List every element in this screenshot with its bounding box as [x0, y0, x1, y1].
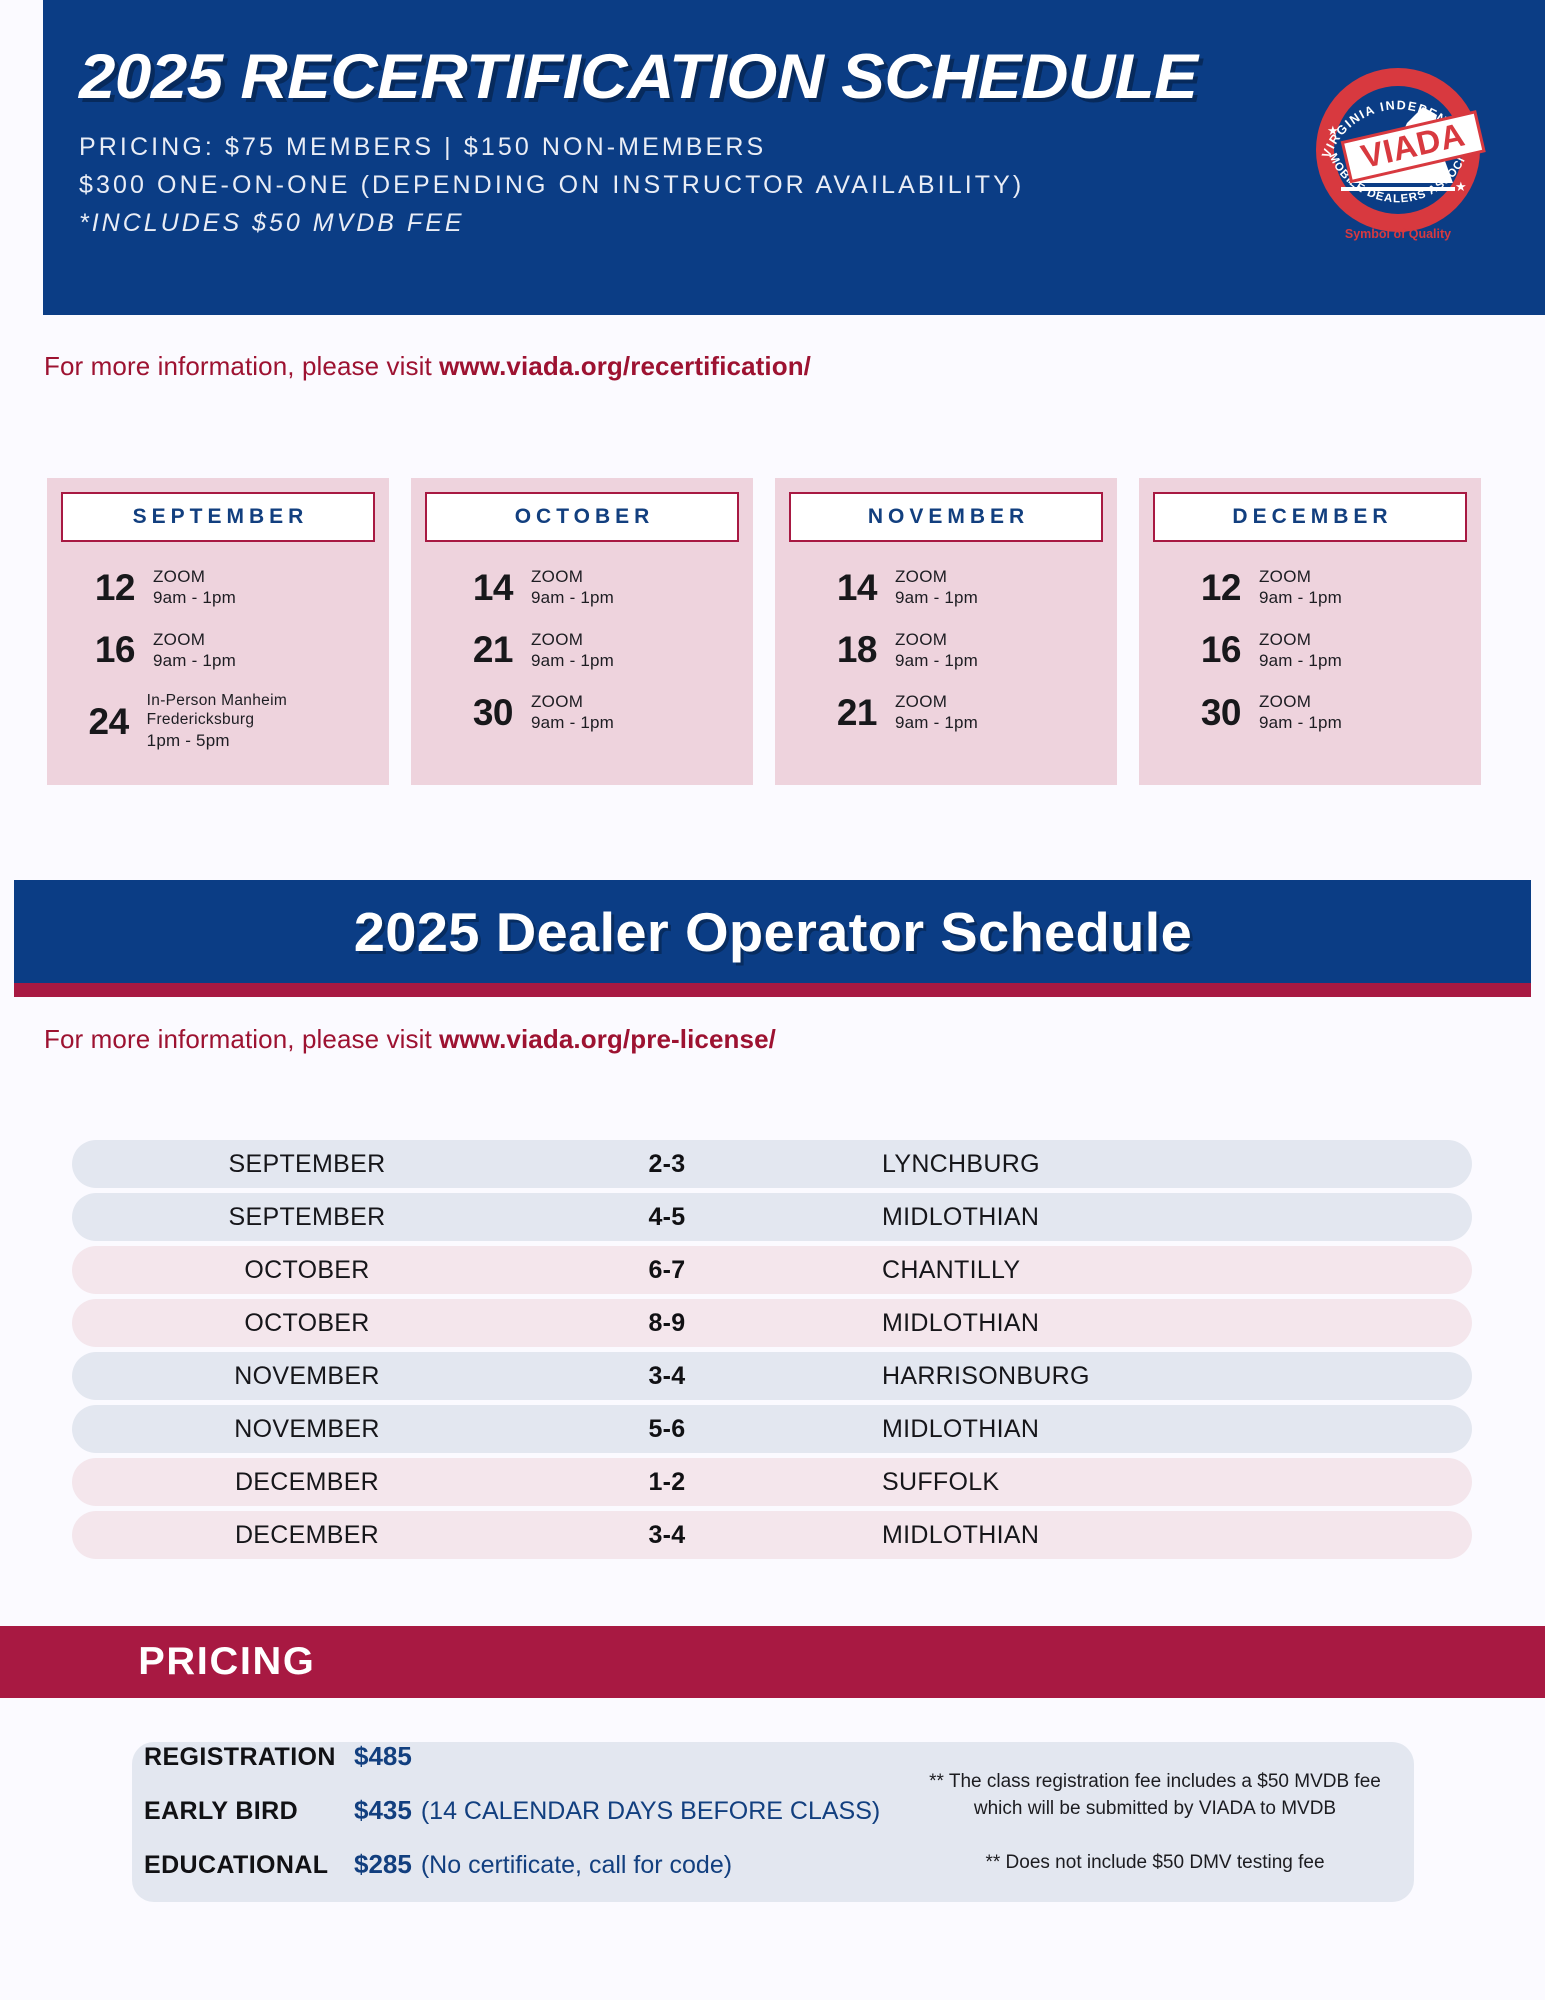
- table-row: DECEMBER 1-2 SUFFOLK: [72, 1458, 1472, 1506]
- row-days: 2-3: [542, 1150, 792, 1179]
- pricing-footnotes: ** The class registration fee includes a…: [922, 1768, 1414, 1877]
- month-card-december: DECEMBER 12 ZOOM 9am - 1pm 16 ZOOM 9am -…: [1139, 478, 1481, 785]
- pricing-card: REGISTRATION $485 EARLY BIRD $435 (14 CA…: [132, 1742, 1414, 1902]
- session-time: 9am - 1pm: [153, 650, 236, 671]
- month-header-november: NOVEMBER: [789, 492, 1103, 542]
- row-month: OCTOBER: [72, 1256, 542, 1285]
- session-day: 16: [1175, 631, 1259, 668]
- session-day: 14: [811, 569, 895, 606]
- session-day: 12: [69, 569, 153, 606]
- session-day: 14: [447, 569, 531, 606]
- month-name: SEPTEMBER: [128, 505, 309, 529]
- pricing-footnote-2: ** Does not include $50 DMV testing fee: [922, 1849, 1388, 1877]
- table-row: NOVEMBER 5-6 MIDLOTHIAN: [72, 1405, 1472, 1453]
- recert-info-line: For more information, please visit www.v…: [44, 351, 811, 382]
- pricing-value: $285: [354, 1849, 412, 1880]
- month-sessions: 12 ZOOM 9am - 1pm 16 ZOOM 9am - 1pm 24: [61, 542, 375, 761]
- session-mode: ZOOM: [1259, 691, 1342, 712]
- table-row: DECEMBER 3-4 MIDLOTHIAN: [72, 1511, 1472, 1559]
- pricing-row-educational: EDUCATIONAL $285 (No certificate, call f…: [144, 1849, 922, 1903]
- session-day: 16: [69, 631, 153, 668]
- session-row: 16 ZOOM 9am - 1pm: [1175, 619, 1467, 682]
- viada-logo-svg: VIRGINIA INDEPENDENT AUTOMOBILE DEALERS …: [1303, 55, 1493, 245]
- table-row: SEPTEMBER 2-3 LYNCHBURG: [72, 1140, 1472, 1188]
- row-city: MIDLOTHIAN: [792, 1309, 1472, 1338]
- session-row: 30 ZOOM 9am - 1pm: [447, 681, 739, 744]
- pricing-rows: REGISTRATION $485 EARLY BIRD $435 (14 CA…: [132, 1741, 922, 1903]
- session-row: 14 ZOOM 9am - 1pm: [447, 556, 739, 619]
- month-card-september: SEPTEMBER 12 ZOOM 9am - 1pm 16 ZOOM 9am …: [47, 478, 389, 785]
- session-row: 21 ZOOM 9am - 1pm: [811, 681, 1103, 744]
- session-time: 9am - 1pm: [531, 587, 614, 608]
- row-days: 5-6: [542, 1415, 792, 1444]
- session-mode: In-Person Manheim Fredericksburg: [147, 691, 375, 730]
- row-month: NOVEMBER: [72, 1362, 542, 1391]
- table-row: SEPTEMBER 4-5 MIDLOTHIAN: [72, 1193, 1472, 1241]
- row-days: 6-7: [542, 1256, 792, 1285]
- session-row: 24 In-Person Manheim Fredericksburg 1pm …: [69, 681, 375, 761]
- session-time: 9am - 1pm: [1259, 712, 1342, 733]
- session-row: 14 ZOOM 9am - 1pm: [811, 556, 1103, 619]
- session-time: 9am - 1pm: [895, 712, 978, 733]
- session-time: 9am - 1pm: [895, 587, 978, 608]
- viada-logo: VIRGINIA INDEPENDENT AUTOMOBILE DEALERS …: [1303, 55, 1493, 245]
- session-day: 21: [447, 631, 531, 668]
- row-days: 4-5: [542, 1203, 792, 1232]
- table-row: NOVEMBER 3-4 HARRISONBURG: [72, 1352, 1472, 1400]
- prelicense-info-url[interactable]: www.viada.org/pre-license/: [439, 1024, 776, 1054]
- dealer-banner-label: Dealer Operator Schedule: [495, 901, 1191, 963]
- month-sessions: 14 ZOOM 9am - 1pm 21 ZOOM 9am - 1pm 30: [425, 542, 739, 744]
- month-header-september: SEPTEMBER: [61, 492, 375, 542]
- month-card-october: OCTOBER 14 ZOOM 9am - 1pm 21 ZOOM 9am - …: [411, 478, 753, 785]
- row-days: 1-2: [542, 1468, 792, 1497]
- month-name: NOVEMBER: [863, 505, 1029, 529]
- pricing-note: (No certificate, call for code): [421, 1851, 732, 1880]
- row-city: HARRISONBURG: [792, 1362, 1472, 1391]
- row-month: DECEMBER: [72, 1468, 542, 1497]
- prelicense-info-line: For more information, please visit www.v…: [44, 1024, 776, 1055]
- dealer-operator-banner: 2025 Dealer Operator Schedule: [14, 880, 1531, 983]
- session-day: 24: [69, 703, 147, 740]
- month-name: OCTOBER: [510, 505, 655, 529]
- row-month: SEPTEMBER: [72, 1150, 542, 1179]
- month-sessions: 12 ZOOM 9am - 1pm 16 ZOOM 9am - 1pm 30: [1153, 542, 1467, 744]
- session-day: 30: [1175, 694, 1259, 731]
- table-row: OCTOBER 8-9 MIDLOTHIAN: [72, 1299, 1472, 1347]
- month-name: DECEMBER: [1227, 505, 1392, 529]
- session-time: 9am - 1pm: [153, 587, 236, 608]
- session-time: 9am - 1pm: [531, 712, 614, 733]
- pricing-label: EARLY BIRD: [144, 1797, 354, 1826]
- row-month: OCTOBER: [72, 1309, 542, 1338]
- row-city: LYNCHBURG: [792, 1150, 1472, 1179]
- month-sessions: 14 ZOOM 9am - 1pm 18 ZOOM 9am - 1pm 21: [789, 542, 1103, 744]
- dealer-operator-table: SEPTEMBER 2-3 LYNCHBURG SEPTEMBER 4-5 MI…: [72, 1140, 1472, 1564]
- session-time: 9am - 1pm: [531, 650, 614, 671]
- session-mode: ZOOM: [531, 691, 614, 712]
- row-city: MIDLOTHIAN: [792, 1415, 1472, 1444]
- session-mode: ZOOM: [153, 566, 236, 587]
- dealer-banner-rule: [14, 983, 1531, 997]
- row-month: SEPTEMBER: [72, 1203, 542, 1232]
- session-mode: ZOOM: [531, 566, 614, 587]
- session-row: 12 ZOOM 9am - 1pm: [69, 556, 375, 619]
- session-mode: ZOOM: [1259, 566, 1342, 587]
- row-month: NOVEMBER: [72, 1415, 542, 1444]
- pricing-footnote-1: ** The class registration fee includes a…: [922, 1768, 1388, 1823]
- row-days: 3-4: [542, 1521, 792, 1550]
- row-days: 3-4: [542, 1362, 792, 1391]
- session-row: 21 ZOOM 9am - 1pm: [447, 619, 739, 682]
- session-row: 18 ZOOM 9am - 1pm: [811, 619, 1103, 682]
- pricing-value: $435: [354, 1795, 412, 1826]
- session-mode: ZOOM: [153, 629, 236, 650]
- prelicense-info-prefix: For more information, please visit: [44, 1024, 439, 1054]
- session-day: 30: [447, 694, 531, 731]
- svg-text:★: ★: [1455, 179, 1467, 194]
- recert-info-url[interactable]: www.viada.org/recertification/: [439, 351, 811, 381]
- session-mode: ZOOM: [895, 629, 978, 650]
- pricing-label: REGISTRATION: [144, 1743, 354, 1772]
- session-row: 30 ZOOM 9am - 1pm: [1175, 681, 1467, 744]
- dealer-banner-year: 2025: [353, 901, 495, 963]
- session-row: 16 ZOOM 9am - 1pm: [69, 619, 375, 682]
- pricing-note: (14 CALENDAR DAYS BEFORE CLASS): [421, 1797, 880, 1826]
- logo-tagline: Symbol of Quality: [1345, 227, 1451, 241]
- month-header-december: DECEMBER: [1153, 492, 1467, 542]
- recert-info-prefix: For more information, please visit: [44, 351, 439, 381]
- row-month: DECEMBER: [72, 1521, 542, 1550]
- month-card-november: NOVEMBER 14 ZOOM 9am - 1pm 18 ZOOM 9am -…: [775, 478, 1117, 785]
- pricing-heading: PRICING: [138, 1640, 315, 1684]
- row-city: MIDLOTHIAN: [792, 1521, 1472, 1550]
- pricing-label: EDUCATIONAL: [144, 1851, 354, 1880]
- session-day: 12: [1175, 569, 1259, 606]
- row-city: SUFFOLK: [792, 1468, 1472, 1497]
- row-days: 8-9: [542, 1309, 792, 1338]
- table-row: OCTOBER 6-7 CHANTILLY: [72, 1246, 1472, 1294]
- session-time: 1pm - 5pm: [147, 730, 375, 751]
- session-day: 18: [811, 631, 895, 668]
- session-mode: ZOOM: [895, 691, 978, 712]
- flyer-page: 2025 RECERTIFICATION SCHEDULE PRICING: $…: [0, 0, 1545, 2000]
- session-time: 9am - 1pm: [1259, 650, 1342, 671]
- pricing-row-early-bird: EARLY BIRD $435 (14 CALENDAR DAYS BEFORE…: [144, 1795, 922, 1849]
- session-mode: ZOOM: [895, 566, 978, 587]
- month-header-october: OCTOBER: [425, 492, 739, 542]
- svg-text:★: ★: [1327, 123, 1339, 138]
- pricing-row-registration: REGISTRATION $485: [144, 1741, 922, 1795]
- month-card-row: SEPTEMBER 12 ZOOM 9am - 1pm 16 ZOOM 9am …: [47, 478, 1499, 785]
- session-time: 9am - 1pm: [1259, 587, 1342, 608]
- row-city: CHANTILLY: [792, 1256, 1472, 1285]
- pricing-value: $485: [354, 1741, 412, 1772]
- pricing-banner: PRICING: [0, 1626, 1545, 1698]
- session-row: 12 ZOOM 9am - 1pm: [1175, 556, 1467, 619]
- session-time: 9am - 1pm: [895, 650, 978, 671]
- session-day: 21: [811, 694, 895, 731]
- session-mode: ZOOM: [1259, 629, 1342, 650]
- dealer-operator-title: 2025 Dealer Operator Schedule: [353, 900, 1191, 964]
- row-city: MIDLOTHIAN: [792, 1203, 1472, 1232]
- session-mode: ZOOM: [531, 629, 614, 650]
